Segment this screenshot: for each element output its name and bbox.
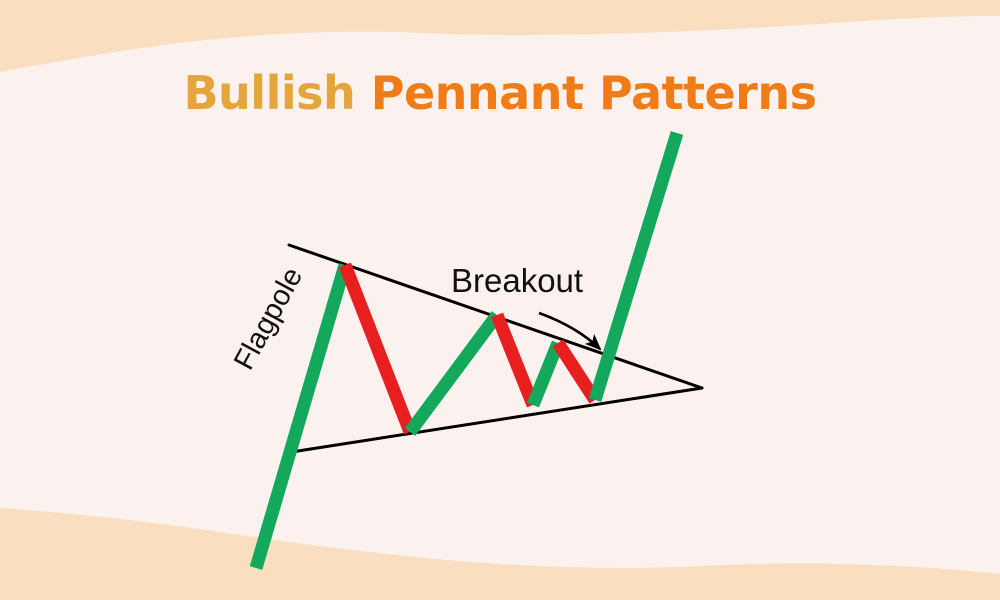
pennant-pattern-illustration: Bullish Pennant Patterns Breakout Flagpo… — [0, 0, 1000, 600]
background-wave-band — [0, 16, 1000, 574]
chart-canvas — [0, 0, 1000, 600]
